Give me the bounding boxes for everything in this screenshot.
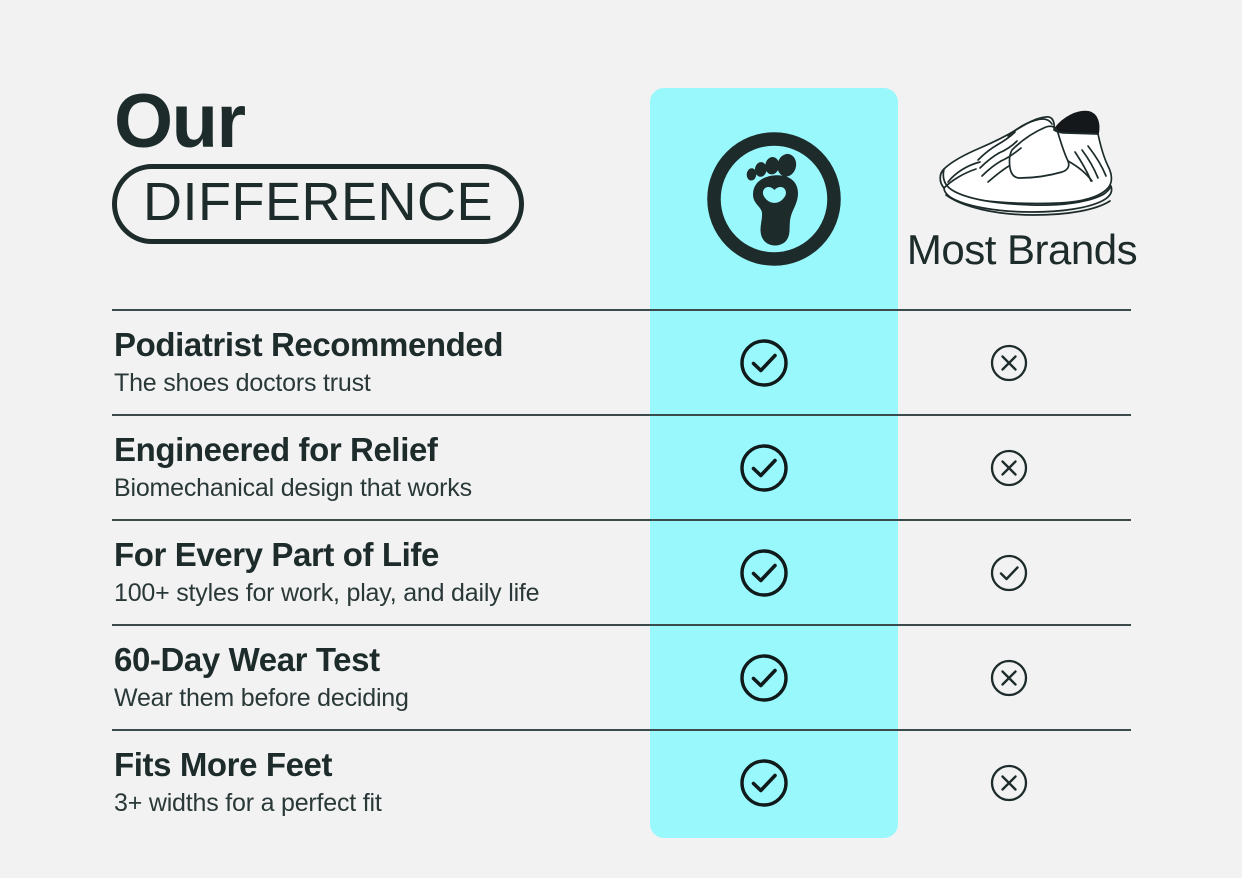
table-row: Engineered for Relief Biomechanical desi… [112, 416, 1131, 519]
feature-text: For Every Part of Life 100+ styles for w… [112, 537, 642, 608]
cross-circle-icon [988, 447, 1030, 489]
competitor-cell [887, 447, 1131, 489]
table-row: 60-Day Wear Test Wear them before decidi… [112, 626, 1131, 729]
title-pill-outline: DIFFERENCE [112, 164, 524, 244]
check-circle-icon [737, 441, 791, 495]
brand-cell [642, 651, 886, 705]
title-line-our: Our [114, 86, 612, 158]
check-circle-icon [737, 336, 791, 390]
title-line-difference: DIFFERENCE [143, 175, 493, 229]
header: Our DIFFERENCE [0, 0, 1242, 310]
feature-title: 60-Day Wear Test [114, 642, 642, 678]
competitor-header-cell: Most Brands [898, 88, 1146, 310]
feature-subtitle: Biomechanical design that works [114, 473, 642, 503]
check-circle-icon [737, 756, 791, 810]
feature-title: Podiatrist Recommended [114, 327, 642, 363]
feature-subtitle: Wear them before deciding [114, 683, 642, 713]
cross-circle-icon [988, 342, 1030, 384]
check-circle-icon [737, 546, 791, 600]
check-circle-icon [737, 651, 791, 705]
table-row: Podiatrist Recommended The shoes doctors… [112, 311, 1131, 414]
competitor-cell [887, 762, 1131, 804]
brand-cell [642, 441, 886, 495]
table-row: For Every Part of Life 100+ styles for w… [112, 521, 1131, 624]
feature-title: Fits More Feet [114, 747, 642, 783]
feature-text: Podiatrist Recommended The shoes doctors… [112, 327, 642, 398]
feature-title: For Every Part of Life [114, 537, 642, 573]
feature-title: Engineered for Relief [114, 432, 642, 468]
feature-subtitle: The shoes doctors trust [114, 368, 642, 398]
page-title: Our DIFFERENCE [112, 86, 612, 244]
feature-text: 60-Day Wear Test Wear them before decidi… [112, 642, 642, 713]
feature-text: Fits More Feet 3+ widths for a perfect f… [112, 747, 642, 818]
brand-logo-cell [650, 88, 898, 310]
comparison-infographic: Our DIFFERENCE [0, 0, 1242, 878]
competitor-cell [887, 657, 1131, 699]
competitor-cell [887, 342, 1131, 384]
feature-text: Engineered for Relief Biomechanical desi… [112, 432, 642, 503]
competitor-cell [887, 552, 1131, 594]
table-row: Fits More Feet 3+ widths for a perfect f… [112, 731, 1131, 834]
competitor-label: Most Brands [907, 226, 1137, 274]
brand-cell [642, 756, 886, 810]
cross-circle-icon [988, 657, 1030, 699]
brand-cell [642, 336, 886, 390]
cross-circle-icon [988, 762, 1030, 804]
check-circle-icon [988, 552, 1030, 594]
foot-heart-circle-logo-icon [699, 124, 849, 274]
brand-cell [642, 546, 886, 600]
feature-subtitle: 3+ widths for a perfect fit [114, 788, 642, 818]
comparison-table: Podiatrist Recommended The shoes doctors… [112, 309, 1131, 834]
feature-subtitle: 100+ styles for work, play, and daily li… [114, 578, 642, 608]
sneaker-illustration-icon [922, 96, 1122, 222]
